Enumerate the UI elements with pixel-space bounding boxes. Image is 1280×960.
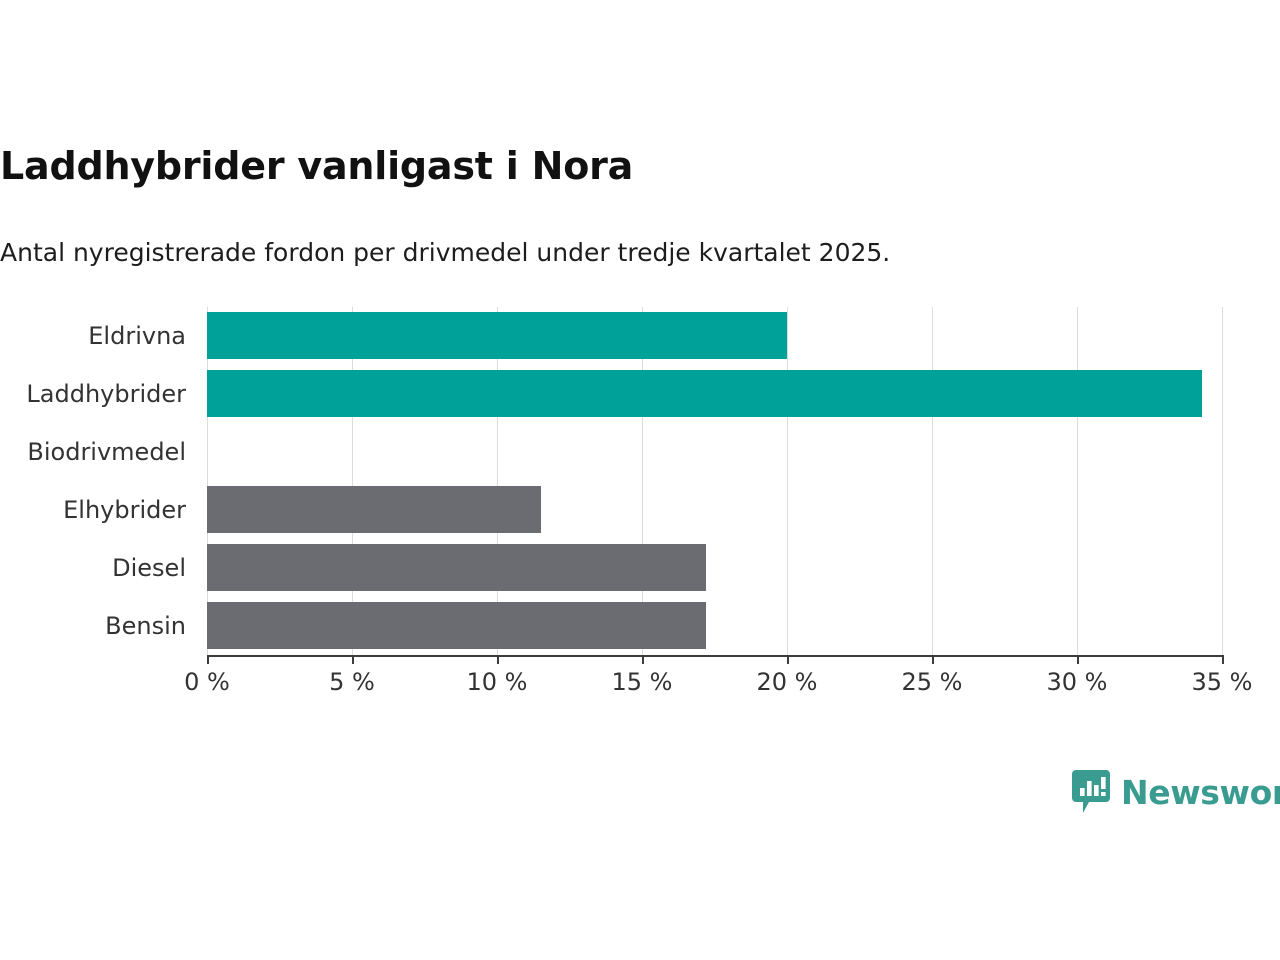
y-axis-label-diesel: Diesel — [0, 556, 186, 580]
x-axis-tick — [932, 655, 934, 664]
y-axis-label-bensin: Bensin — [0, 614, 186, 638]
gridline — [1222, 307, 1223, 655]
bar-diesel[interactable] — [207, 544, 706, 591]
y-axis-label-elhybrider: Elhybrider — [0, 498, 186, 522]
x-tick-label: 10 % — [427, 670, 567, 694]
x-tick-label: 5 % — [282, 670, 422, 694]
x-tick-label: 15 % — [572, 670, 712, 694]
y-axis-label-laddhybrider: Laddhybrider — [0, 382, 186, 406]
x-axis-tick — [642, 655, 644, 664]
bar-laddhybrider[interactable] — [207, 370, 1202, 417]
newsworthy-logo: Newsworthy — [1072, 770, 1280, 814]
x-axis-tick — [1077, 655, 1079, 664]
y-axis-label-biodrivmedel: Biodrivmedel — [0, 440, 186, 464]
bar-row — [207, 307, 1222, 365]
x-axis-line — [207, 655, 1223, 657]
x-axis-tick — [352, 655, 354, 664]
x-axis-tick — [497, 655, 499, 664]
bar-row — [207, 365, 1222, 423]
page-title: Laddhybrider vanligast i Nora — [0, 145, 1260, 189]
x-axis-tick — [1222, 655, 1224, 664]
chart-subtitle: Antal nyregistrerade fordon per drivmede… — [0, 238, 1260, 268]
bar-row — [207, 539, 1222, 597]
y-axis-label-eldrivna: Eldrivna — [0, 324, 186, 348]
x-axis-tick — [787, 655, 789, 664]
x-tick-label: 0 % — [137, 670, 277, 694]
bar-row — [207, 481, 1222, 539]
plot-area — [207, 307, 1222, 655]
x-axis-tick — [207, 655, 209, 664]
brand-name: Newsworthy — [1121, 776, 1280, 809]
bar-elhybrider[interactable] — [207, 486, 541, 533]
x-tick-label: 25 % — [862, 670, 1002, 694]
bar-chart-speech-bubble-icon — [1072, 770, 1110, 814]
bar-bensin[interactable] — [207, 602, 706, 649]
x-tick-label: 20 % — [717, 670, 857, 694]
bar-row — [207, 423, 1222, 481]
bar-eldrivna[interactable] — [207, 312, 787, 359]
x-tick-label: 35 % — [1152, 670, 1280, 694]
bar-row — [207, 597, 1222, 655]
x-tick-label: 30 % — [1007, 670, 1147, 694]
